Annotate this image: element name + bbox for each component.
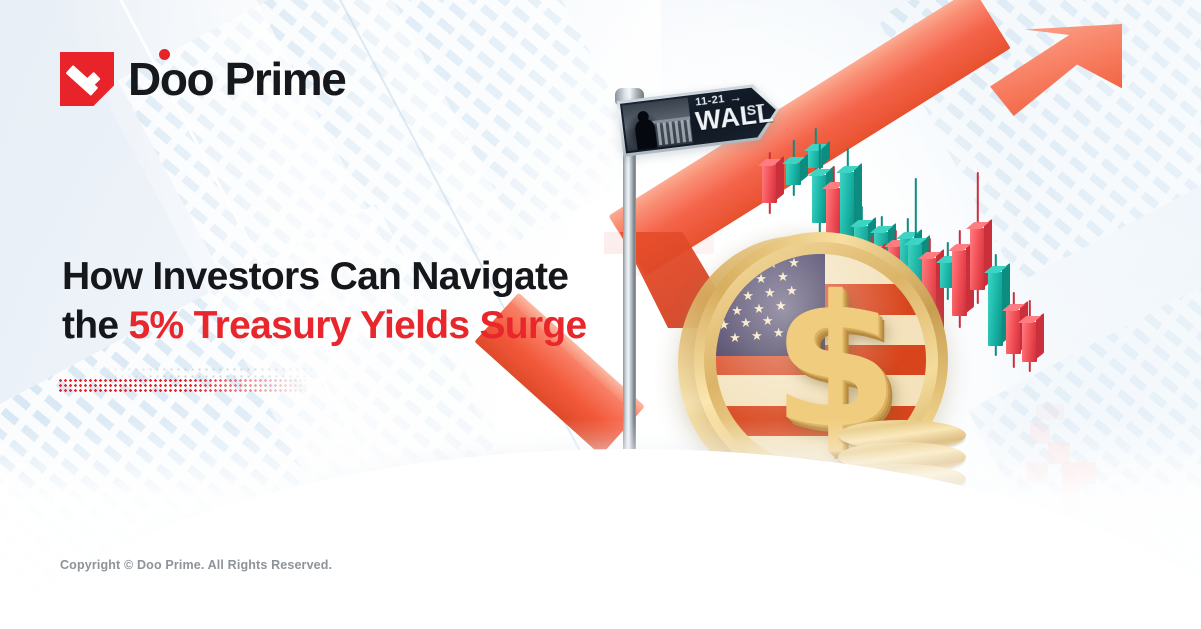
brand-name: Doo Prime [128, 56, 345, 102]
candlestick [988, 0, 1003, 1]
brand-logo[interactable]: Doo Prime [60, 52, 345, 106]
candlestick [908, 0, 923, 1]
candle-body [1022, 322, 1037, 362]
candlestick [1006, 0, 1021, 1]
candlestick [922, 0, 937, 1]
candlestick [786, 0, 801, 1]
doo-prime-logo-mark [60, 52, 114, 106]
candlestick [762, 0, 777, 1]
headline-line-1: How Investors Can Navigate [62, 255, 568, 298]
candlestick [812, 0, 827, 1]
candlestick [952, 0, 967, 1]
candlestick [970, 0, 985, 1]
copyright-text: Copyright © Doo Prime. All Rights Reserv… [60, 558, 332, 572]
headline-line-2-prefix: the [62, 304, 129, 347]
logo-accent-dot [159, 49, 170, 60]
sign-photo-engraving [622, 98, 693, 152]
candlestick [826, 0, 841, 1]
candle-body [808, 150, 823, 168]
headline-line-2-accent: 5% Treasury Yields Surge [129, 304, 587, 347]
page-title: How Investors Can Navigate the 5% Treasu… [62, 252, 622, 350]
candle-body [970, 228, 985, 290]
marketing-banner: 11-21 → WALL ST [0, 0, 1201, 629]
candle-body [988, 272, 1003, 346]
candlestick [840, 0, 855, 1]
floor-fade [0, 419, 1201, 629]
halftone-divider [58, 366, 326, 392]
candle-body [812, 175, 827, 223]
candle-body [1006, 310, 1021, 354]
halftone-dots-red [58, 378, 310, 392]
candlestick [864, 0, 879, 1]
candle-body [952, 250, 967, 316]
candle-body [762, 165, 777, 203]
sign-street-suffix: ST [746, 100, 766, 118]
candle-body [786, 163, 801, 185]
candlestick [1022, 0, 1037, 1]
